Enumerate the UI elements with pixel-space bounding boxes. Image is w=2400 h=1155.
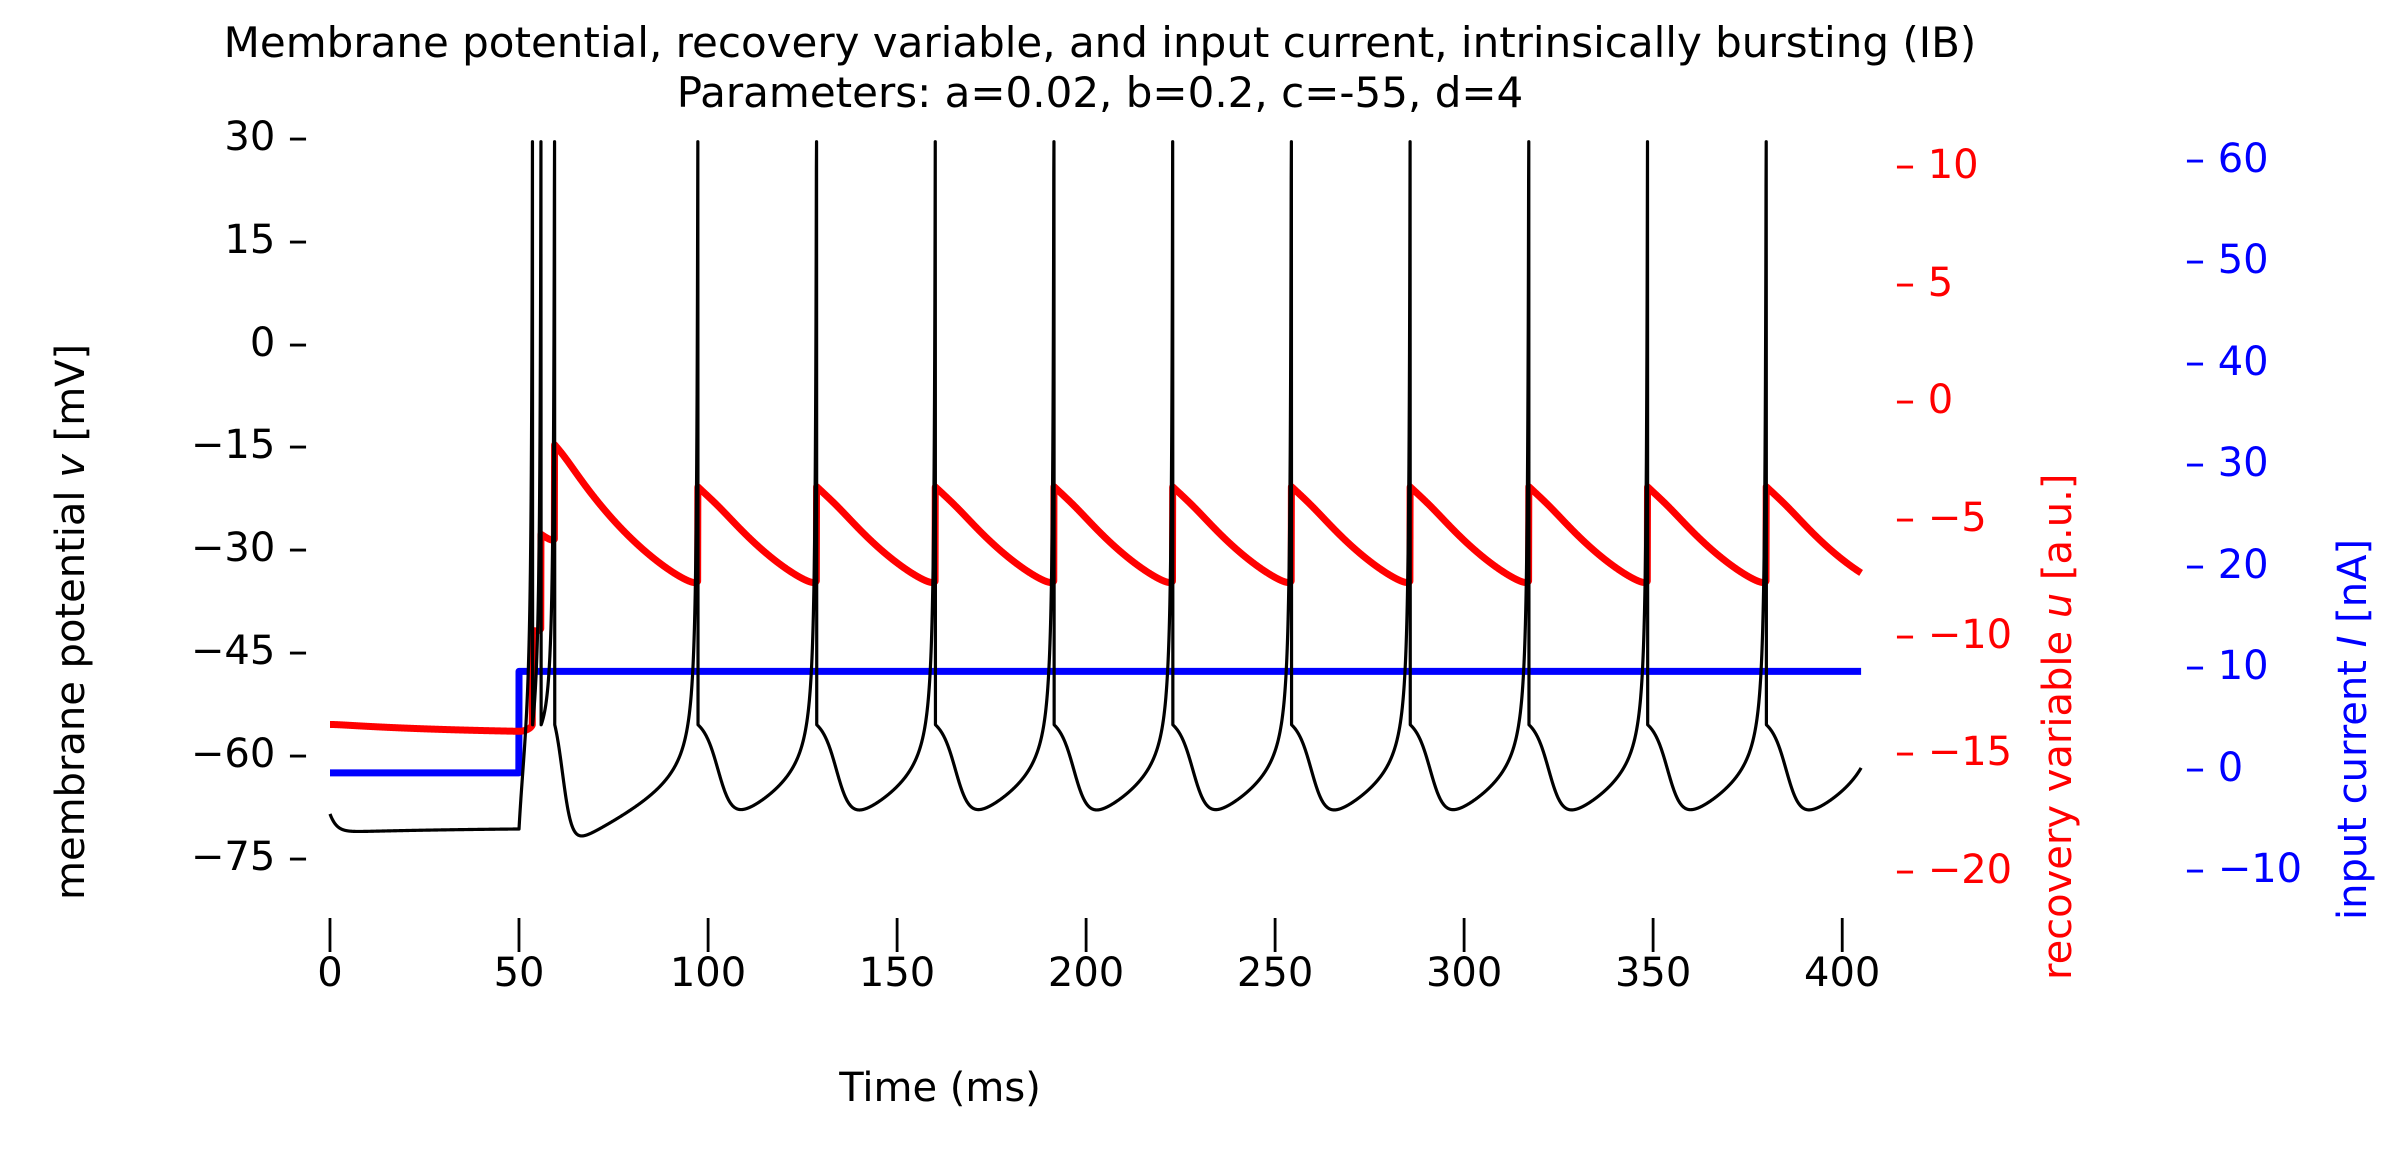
trace-recovery-variable <box>330 445 1861 731</box>
trace-membrane-potential <box>330 142 1861 836</box>
plot-canvas <box>0 0 2400 1155</box>
figure-root: Membrane potential, recovery variable, a… <box>0 0 2400 1155</box>
